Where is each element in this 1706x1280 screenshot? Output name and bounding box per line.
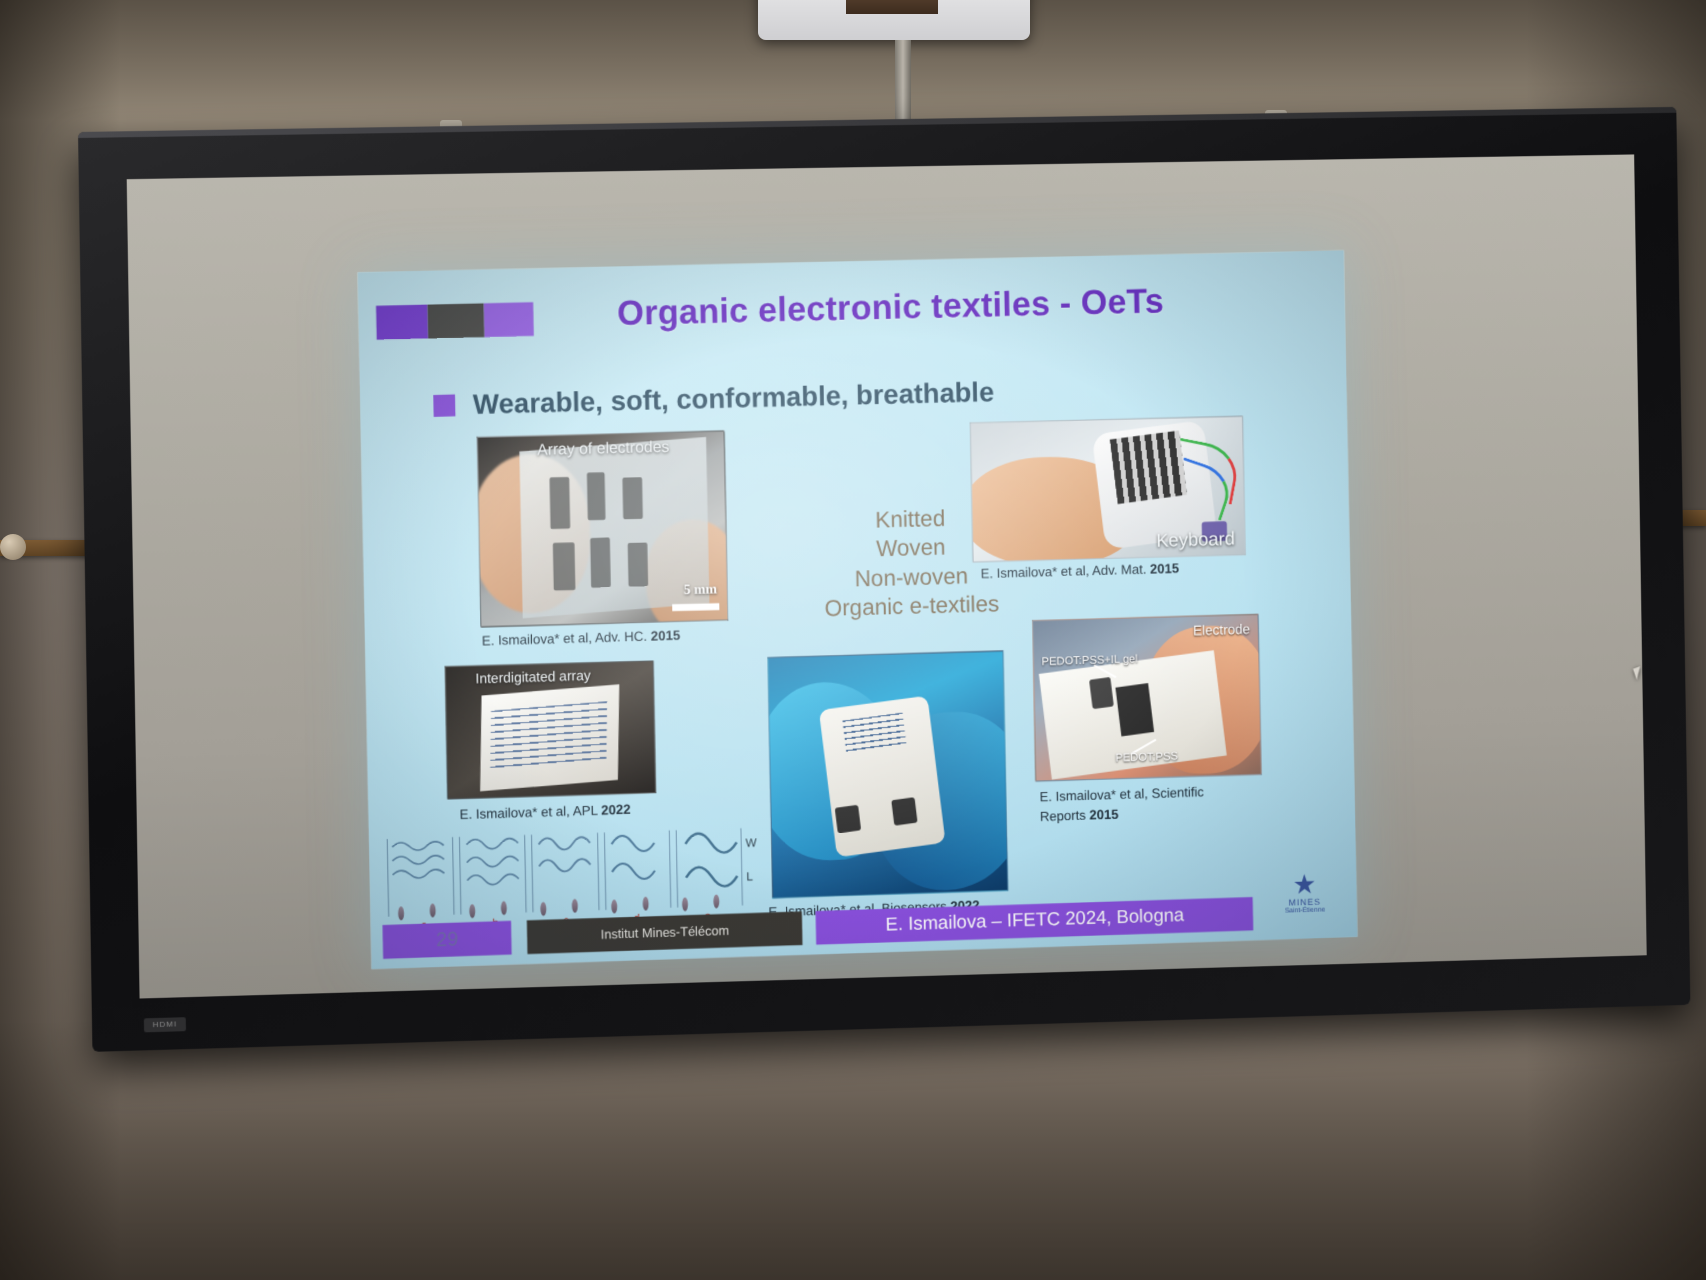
wall-rail-cap-left — [0, 534, 26, 560]
figure-overlay-label: Electrode — [1193, 621, 1250, 638]
caption-author: E. Ismailova* et al, Adv. HC. — [482, 629, 648, 648]
patch-electrode — [835, 805, 861, 834]
bullet-square-icon — [433, 394, 455, 416]
textile-type-list: Knitted Woven Non-woven Organic e-textil… — [807, 502, 1014, 624]
display-panel: Organic electronic textiles - OeTs Weara… — [127, 154, 1647, 998]
textile-type-item: Organic e-textiles — [809, 589, 1014, 624]
caption-author: E. Ismailova* et al, APL — [459, 803, 597, 822]
gel-spot — [1089, 677, 1114, 709]
figure-overlay-label: Array of electrodes — [537, 439, 669, 460]
caption-year: 2015 — [1150, 561, 1179, 577]
bullet-text: Wearable, soft, conformable, breathable — [473, 376, 995, 420]
electrode-pad — [590, 538, 611, 588]
caption-year: 2015 — [651, 628, 681, 644]
display-input-badge: HDMI — [144, 1017, 186, 1032]
decoration-block-purple-left — [376, 305, 428, 340]
interdigitated-traces — [490, 701, 607, 768]
figure-caption-scientific-reports-line2: Reports 2015 — [1040, 807, 1119, 824]
electrode-pad — [628, 542, 649, 586]
caption-author-cont: Reports — [1040, 808, 1086, 824]
pedot-film — [1115, 683, 1154, 736]
figure-biosensor-patch — [767, 650, 1008, 898]
electrode-pad — [622, 477, 642, 519]
projected-slide[interactable]: Organic electronic textiles - OeTs Weara… — [357, 250, 1357, 969]
caption-year: 2015 — [1089, 807, 1118, 823]
patch-electrode — [891, 797, 917, 826]
wall-display[interactable]: HDMI Organic electronic textiles - OeTs … — [78, 107, 1697, 1072]
caption-author: E. Ismailova* et al, Scientific — [1039, 785, 1204, 805]
slide-number: 29 — [382, 921, 511, 959]
figure-caption-array: E. Ismailova* et al, Adv. HC. 2015 — [482, 628, 681, 648]
room-wall: HDMI Organic electronic textiles - OeTs … — [0, 0, 1706, 1280]
figure-overlay-label: Interdigitated array — [475, 667, 590, 686]
figure-caption-scientific-reports-line1: E. Ismailova* et al, Scientific — [1039, 785, 1204, 805]
mines-saint-etienne-logo: ★ MINES Saint-Étienne — [1270, 873, 1340, 928]
electrode-pad — [587, 472, 606, 520]
logo-subtitle: Saint-Étienne — [1270, 906, 1340, 915]
electrode-pad — [553, 542, 576, 590]
bullet-row: Wearable, soft, conformable, breathable — [433, 376, 994, 421]
electrode-pad — [550, 477, 571, 529]
figure-electrode-gel: Electrode PEDOT:PSS+IL gel PEDOT:PSS — [1032, 614, 1262, 782]
decoration-block-dark — [427, 303, 484, 338]
figure-interdigitated-array: Interdigitated array — [445, 660, 657, 799]
diagram-length-label: L — [746, 870, 753, 884]
slide-title: Organic electronic textiles - OeTs — [617, 282, 1165, 334]
diagram-width-label: W — [745, 836, 756, 850]
scale-bar-icon — [672, 603, 719, 611]
decoration-block-purple-right — [484, 302, 534, 337]
slide-title-decoration — [376, 302, 534, 339]
figure-caption-interdigitated: E. Ismailova* et al, APL 2022 — [459, 802, 630, 822]
logo-glyph-icon: ★ — [1270, 873, 1340, 899]
caption-year: 2022 — [601, 802, 631, 818]
slide-canvas: Organic electronic textiles - OeTs Weara… — [357, 250, 1357, 969]
scale-bar-label: 5 mm — [684, 582, 718, 599]
figure-overlay-label-pedot: PEDOT:PSS — [1115, 751, 1178, 765]
figure-overlay-label: Keyboard — [1156, 529, 1235, 553]
projector-lens — [846, 0, 938, 14]
transparent-film — [519, 437, 709, 618]
figure-array-of-electrodes: Array of electrodes 5 mm — [477, 430, 729, 627]
